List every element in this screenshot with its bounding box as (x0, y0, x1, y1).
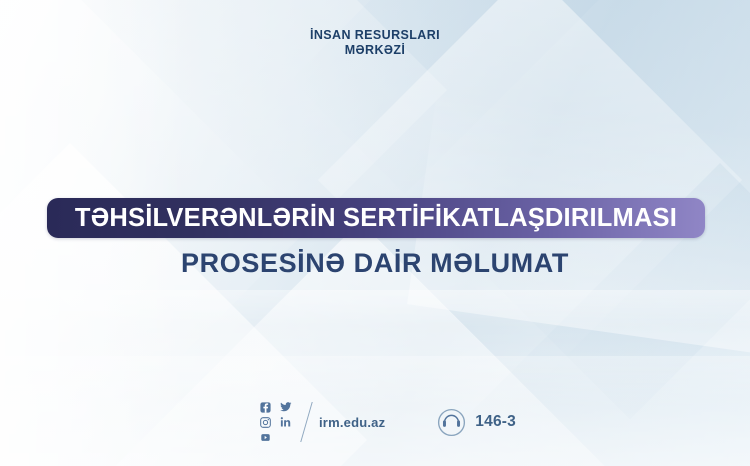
support-phone-number: 146-3 (475, 413, 516, 431)
title-line-2: PROSESİNƏ DAİR MƏLUMAT (0, 248, 750, 279)
social-links (258, 401, 293, 444)
organisation-logo: İNSAN RESURSLARI MƏRKƏZİ (0, 28, 750, 59)
twitter-icon[interactable] (280, 401, 292, 413)
slide-canvas: İNSAN RESURSLARI MƏRKƏZİ TƏHSİLVERƏNLƏRİ… (0, 0, 750, 466)
website-link[interactable]: irm.edu.az (319, 415, 385, 430)
title-line-1: TƏHSİLVERƏNLƏRİN SERTİFİKATLAŞDIRILMASI (75, 204, 677, 233)
logo-line-1: İNSAN RESURSLARI (0, 28, 750, 43)
linkedin-icon[interactable] (280, 416, 292, 428)
headset-icon (437, 408, 466, 437)
support-contact: 146-3 (437, 408, 516, 437)
youtube-icon[interactable] (260, 433, 271, 442)
footer-divider (300, 402, 312, 442)
logo-line-2: MƏRKƏZİ (0, 43, 750, 58)
title-banner: TƏHSİLVERƏNLƏRİN SERTİFİKATLAŞDIRILMASI (47, 198, 705, 238)
facebook-icon[interactable] (260, 402, 271, 413)
background-band (0, 290, 750, 328)
footer-bar: irm.edu.az 146-3 (258, 398, 516, 446)
instagram-icon[interactable] (260, 417, 271, 428)
facet-shape (318, 0, 742, 392)
